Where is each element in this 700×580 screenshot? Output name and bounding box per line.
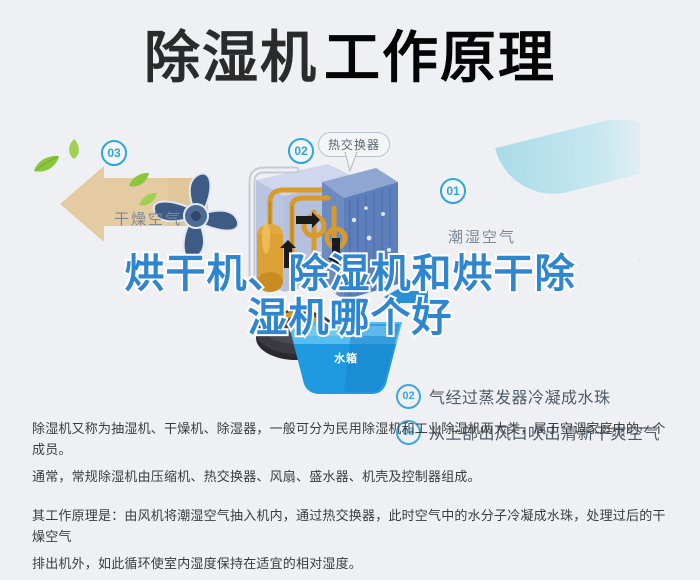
callout-tail bbox=[344, 152, 358, 172]
page-title-part2: 工作原理 bbox=[324, 26, 556, 89]
page-title: 除湿机工作原理 bbox=[0, 26, 700, 90]
header-banner: 除湿机工作原理 bbox=[0, 0, 700, 120]
page-title-part1: 除湿机 bbox=[144, 26, 318, 89]
leaf-icon bbox=[32, 154, 60, 174]
callout-badge-01: 01 bbox=[440, 178, 466, 204]
legend-item-02: 02 气经过蒸发器冷凝成水珠 bbox=[396, 378, 696, 414]
humid-air-label: 潮湿空气 bbox=[448, 226, 516, 247]
callout-badge-02: 02 bbox=[288, 138, 314, 164]
paragraph-divider bbox=[32, 493, 672, 505]
body-copy: 除湿机又称为抽湿机、干燥机、除湿器，一般可分为民用除湿机和工业除湿机两大类，属于… bbox=[32, 418, 672, 580]
leaf-icon bbox=[128, 172, 150, 188]
callout-badge-03: 03 bbox=[101, 140, 127, 166]
paragraph1-line1: 除湿机又称为抽湿机、干燥机、除湿器，一般可分为民用除湿机和工业除湿机两大类，属于… bbox=[32, 418, 672, 460]
legend-text-02: 气经过蒸发器冷凝成水珠 bbox=[429, 384, 611, 408]
paragraph2-line1: 其工作原理是：由风机将潮湿空气抽入机内，通过热交换器，此时空气中的水分子冷凝成水… bbox=[32, 505, 672, 547]
leaf-icon bbox=[66, 138, 82, 160]
legend-badge-02: 02 bbox=[396, 384, 421, 409]
water-tank: 水箱 bbox=[286, 318, 404, 396]
infographic-page: 除湿机工作原理 bbox=[0, 0, 700, 566]
water-tank-label: 水箱 bbox=[334, 350, 358, 366]
paragraph2-line2: 排出机外，如此循环使室内湿度保持在适宜的相对湿度。 bbox=[32, 553, 672, 574]
dry-air-label: 干燥空气 bbox=[114, 208, 182, 229]
paragraph1-line2: 通常，常规除湿机由压缩机、热交换器、风扇、盛水器、机壳及控制器组成。 bbox=[32, 466, 672, 487]
diagram-stage: 水箱 03 02 01 干燥空气 潮湿空气 热交换器 02 气经过蒸发器冷凝 bbox=[0, 120, 700, 398]
humid-airflow-tail bbox=[495, 120, 640, 206]
air-inlet-arrow-icon bbox=[384, 288, 428, 306]
